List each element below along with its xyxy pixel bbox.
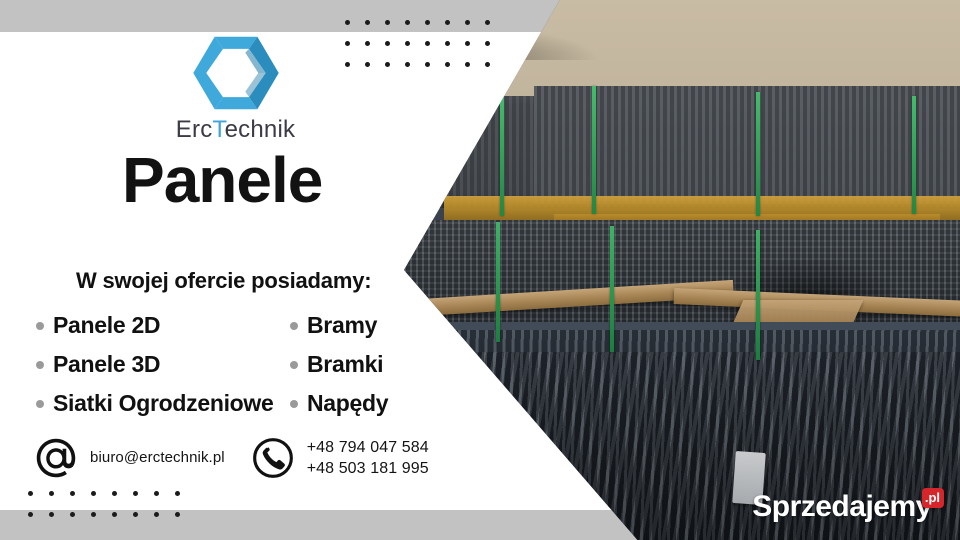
services-column-left: Panele 2D Panele 3D Siatki Ogrodzeniowe [36, 312, 276, 417]
email-address: biuro@erctechnik.pl [90, 448, 225, 468]
list-item: Siatki Ogrodzeniowe [36, 390, 276, 417]
service-label: Bramki [307, 351, 383, 378]
list-item: Bramki [290, 351, 440, 378]
bullet-icon [36, 400, 44, 408]
dot [485, 20, 490, 25]
service-label: Panele 3D [53, 351, 160, 378]
bullet-icon [36, 322, 44, 330]
phone-handset-icon [251, 436, 295, 480]
service-label: Panele 2D [53, 312, 160, 339]
content-column: ErcTechnik Panele W swojej ofercie posia… [0, 0, 470, 540]
contact-phone-text: +48 794 047 584 +48 503 181 995 [307, 437, 429, 479]
dot [485, 41, 490, 46]
offer-subheading: W swojej ofercie posiadamy: [76, 268, 371, 294]
list-item: Panele 3D [36, 351, 276, 378]
bullet-icon [290, 361, 298, 369]
list-item: Bramy [290, 312, 440, 339]
services-column-right: Bramy Bramki Napędy [290, 312, 440, 417]
brand-logo: ErcTechnik [163, 34, 308, 144]
contact-phone[interactable]: +48 794 047 584 +48 503 181 995 [251, 436, 429, 480]
list-item: Panele 2D [36, 312, 276, 339]
contact-email[interactable]: biuro@erctechnik.pl [34, 436, 225, 480]
bullet-icon [290, 322, 298, 330]
wordmark-part2: echnik [225, 116, 296, 143]
bullet-icon [36, 361, 44, 369]
wordmark-highlight: T [212, 116, 224, 143]
wordmark-part1: Erc [176, 116, 213, 143]
hexagon-ring-logo-icon [188, 34, 284, 112]
bullet-icon [290, 400, 298, 408]
phone-number: +48 794 047 584 [307, 437, 429, 458]
dot [485, 62, 490, 67]
service-label: Napędy [307, 390, 388, 417]
services-list: Panele 2D Panele 3D Siatki Ogrodzeniowe … [36, 312, 446, 417]
advertisement-banner: ErcTechnik Panele W swojej ofercie posia… [0, 0, 960, 540]
list-item: Napędy [290, 390, 440, 417]
page-title: Panele [122, 148, 322, 212]
brand-wordmark: ErcTechnik [163, 116, 308, 144]
service-label: Bramy [307, 312, 377, 339]
at-sign-icon [34, 436, 78, 480]
phone-number: +48 503 181 995 [307, 458, 429, 479]
service-label: Siatki Ogrodzeniowe [53, 390, 274, 417]
contact-email-text: biuro@erctechnik.pl [90, 448, 225, 468]
contact-bar: biuro@erctechnik.pl +48 794 047 584 +48 … [34, 436, 429, 480]
